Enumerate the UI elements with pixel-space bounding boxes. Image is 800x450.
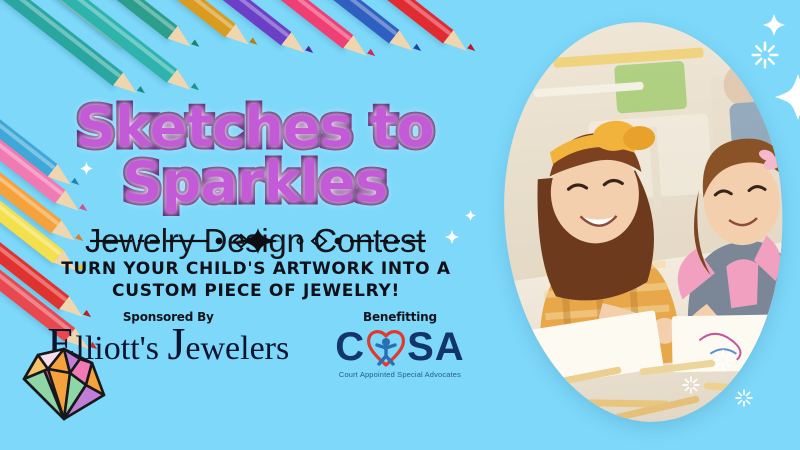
casa-heart-figure-icon — [366, 326, 406, 368]
colored-pencil — [0, 0, 123, 86]
body-copy-line-2: CUSTOM PIECE OF JEWELRY! — [0, 280, 512, 302]
colored-pencil — [325, 0, 454, 44]
beneficiary-kicker: Benefitting — [335, 310, 464, 324]
colored-pencil — [221, 0, 354, 49]
page-title: Sketches to Sparkles — [0, 100, 510, 210]
body-copy: TURN YOUR CHILD'S ARTWORK INTO A CUSTOM … — [0, 258, 512, 303]
jewelers-cap-j: J — [168, 318, 186, 369]
colored-pencil — [271, 0, 400, 44]
sparkle-burst-bottom3 — [733, 387, 755, 414]
casa-letter-c: C — [335, 327, 365, 367]
colored-pencil — [37, 0, 177, 83]
promotional-poster: Sketches to Sparkles Jewelry Design Cont… — [0, 0, 800, 450]
jewelers-rest: ewelers — [185, 330, 289, 367]
sparkle-star-right — [775, 74, 800, 125]
colored-pencil — [3, 0, 132, 48]
casa-letters-sa: SA — [407, 327, 465, 367]
ornamental-divider — [88, 228, 428, 254]
casa-logo: C SA — [335, 326, 464, 368]
colored-pencil — [57, 0, 178, 39]
body-copy-line-1: TURN YOUR CHILD'S ARTWORK INTO A — [0, 258, 512, 280]
two-girls-drawing-photo — [491, 13, 796, 431]
sparkle-burst-top — [748, 38, 782, 77]
photo-illustration — [491, 13, 796, 431]
photo-container — [505, 22, 783, 422]
diamond-illustration — [18, 333, 110, 434]
colored-pencil — [163, 0, 292, 46]
sparkle-star-topright — [763, 14, 785, 41]
colored-pencil — [115, 0, 236, 37]
casa-tagline: Court Appointed Special Advocates — [335, 370, 464, 379]
beneficiary-logo-block: Benefitting C SA Court Appointed Special… — [335, 310, 464, 379]
